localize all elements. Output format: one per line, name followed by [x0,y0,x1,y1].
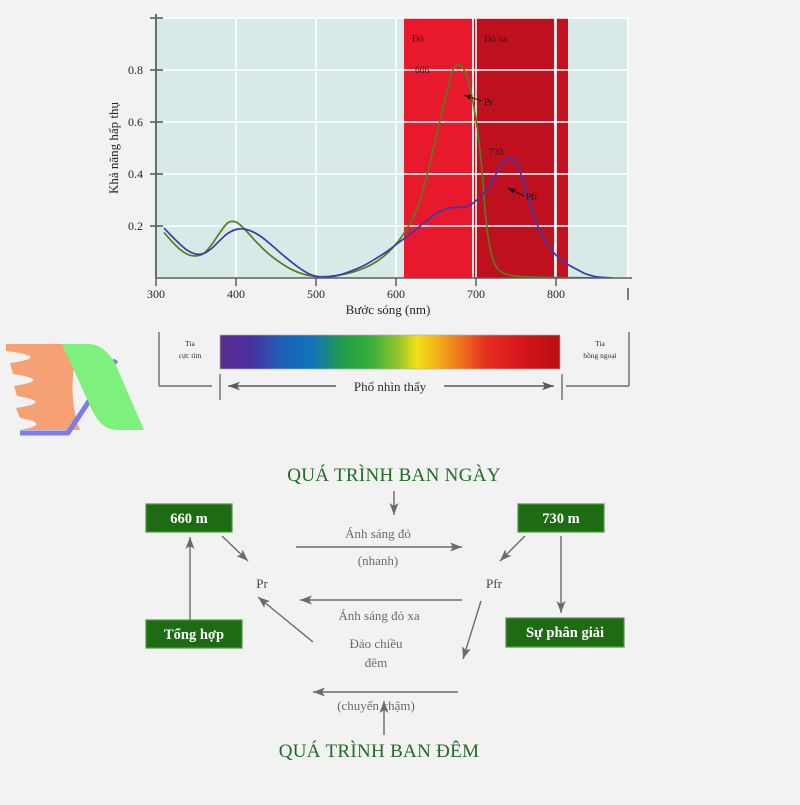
box-660nm-label: 660 m [170,511,207,527]
x-tick-400: 400 [227,287,245,301]
ir-label-line2: hồng ngoại [583,351,617,360]
x-tick-600: 600 [387,287,405,301]
box-degradation[interactable]: Sự phân giải [506,618,624,647]
band-red [404,18,472,278]
edge-far-red-light-label: Ánh sáng đỏ xa [338,608,419,623]
curve-label-pr: Pr [484,98,493,108]
box-synthesis[interactable]: Tổng hợp [146,620,242,648]
curve-label-pfr: Pfr [526,192,538,203]
x-tick-300: 300 [147,287,165,301]
band-far-red [474,18,554,278]
x-tick-700: 700 [467,287,485,301]
logo-svg [2,330,152,445]
chart-svg: Đỏ Đỏ xa 666 730 Pr Pfr 0.8 0.6 0.4 0.2 [0,0,800,320]
band-label-red: Đỏ [412,35,424,45]
diagram-svg: QUÁ TRÌNH BAN NGÀY 660 m 730 m Tổng hợp … [0,443,800,800]
band-label-far-red: Đỏ xa [484,35,508,45]
arrow-730-to-pfr [500,536,525,561]
y-tick-0.6: 0.6 [128,115,143,129]
peak-label-730: 730 [489,148,504,158]
nighttime-process-heading: QUÁ TRÌNH BAN ĐÊM [279,740,480,762]
node-pfr-label: Pfr [486,576,503,591]
daytime-process-heading: QUÁ TRÌNH BAN NGÀY [287,464,501,486]
absorption-spectrum-chart: Đỏ Đỏ xa 666 730 Pr Pfr 0.8 0.6 0.4 0.2 [0,0,800,320]
edge-night-reversal-line2: đêm [365,655,387,670]
y-tick-0.4: 0.4 [128,167,143,181]
edge-fast-label: (nhanh) [358,553,398,568]
edge-night-reversal-line1: Đảo chiều [349,636,403,651]
band-far-red-edge [556,18,568,278]
edge-slow-label: (chuyển chậm) [337,698,415,713]
visible-spectrum-label: Phổ nhìn thấy [354,379,427,394]
box-730nm-label: 730 m [542,511,579,527]
box-degradation-label: Sự phân giải [526,625,604,641]
brand-watermark-logo [2,330,152,445]
x-ticks [156,278,556,286]
node-pr-label: Pr [256,576,268,591]
y-tick-0.2: 0.2 [128,219,143,233]
uv-label-line2: cực tím [179,351,202,360]
uv-label-line1: Tia [185,339,195,348]
x-tick-500: 500 [307,287,325,301]
ir-label-line1: Tia [595,339,605,348]
arrow-night-reversal-from-pfr [463,601,481,659]
arrow-night-reversal-to-pr [258,597,313,642]
box-730nm[interactable]: 730 m [518,504,604,532]
box-synthesis-label: Tổng hợp [164,627,224,643]
box-660nm[interactable]: 660 m [146,504,232,532]
phytochrome-cycle-diagram: QUÁ TRÌNH BAN NGÀY 660 m 730 m Tổng hợp … [0,443,800,800]
x-tick-800: 800 [547,287,565,301]
y-axis-title: Khả năng hấp thụ [106,101,121,194]
edge-red-light-label: Ánh sáng đỏ [345,526,411,541]
x-axis-title: Bước sóng (nm) [346,302,431,317]
arrow-660-to-pr [222,536,248,561]
y-tick-0.8: 0.8 [128,63,143,77]
spectrum-bar [220,335,560,369]
peak-label-666: 666 [415,66,430,76]
